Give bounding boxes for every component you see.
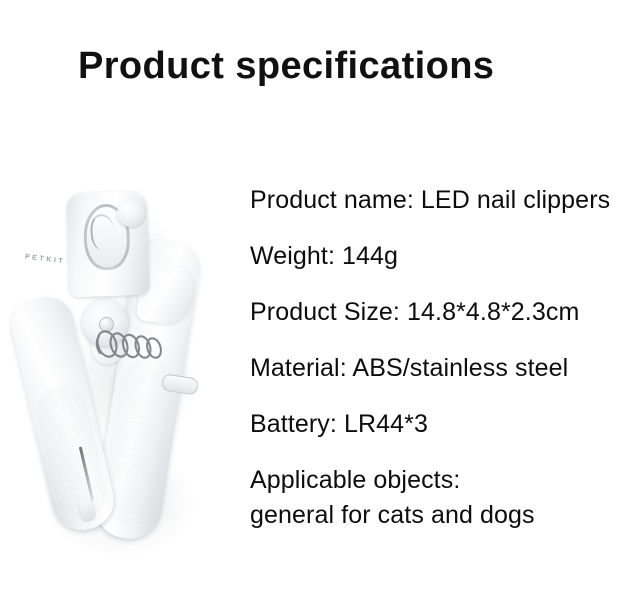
clipper-head <box>66 191 150 298</box>
return-spring-icon <box>94 310 178 370</box>
spec-material: Material: ABS/stainless steel <box>250 356 640 381</box>
head-pivot-knob <box>116 199 145 228</box>
spec-product-size: Product Size: 14.8*4.8*2.3cm <box>250 300 640 325</box>
spec-product-name: Product name: LED nail clippers <box>250 188 640 213</box>
brand-logo-text: PETKIT <box>14 252 76 267</box>
spec-weight: Weight: 144g <box>250 244 640 269</box>
spec-applicable-objects-detail: general for cats and dogs <box>250 503 640 528</box>
spec-applicable-objects: Applicable objects: <box>250 468 640 493</box>
page-title: Product specifications <box>78 46 494 88</box>
product-specifications-page: Product specifications PETKIT <box>0 0 640 615</box>
specifications-list: Product name: LED nail clippers Weight: … <box>250 188 640 528</box>
product-image: PETKIT <box>6 178 246 560</box>
spec-battery: Battery: LR44*3 <box>250 412 640 437</box>
